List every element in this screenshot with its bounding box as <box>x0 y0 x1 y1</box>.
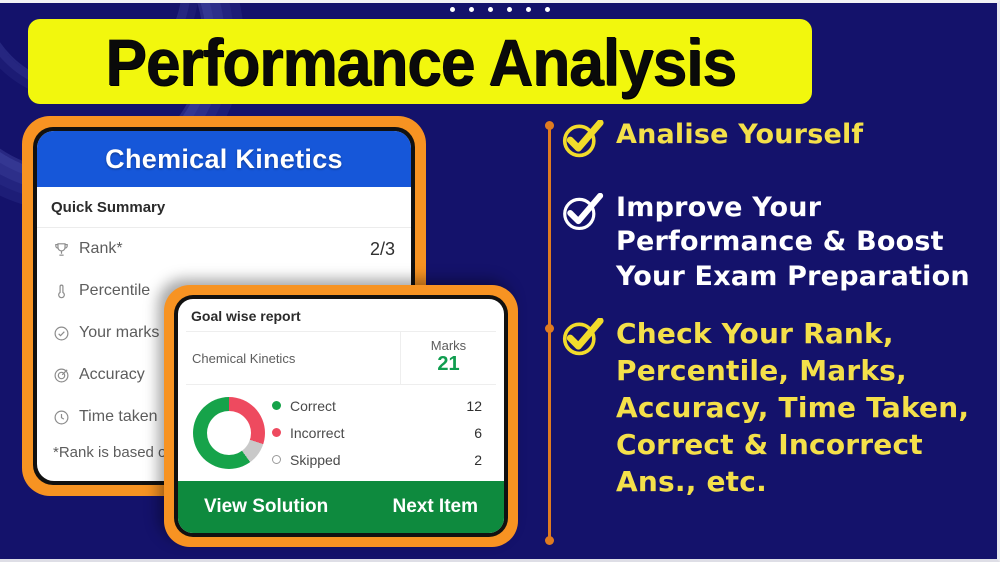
goal-report-marks-cell: Marks 21 <box>400 332 496 384</box>
dot-icon <box>545 7 550 12</box>
top-dots-decoration <box>0 7 1000 12</box>
legend-row-skipped: Skipped 2 <box>272 446 482 473</box>
dot-icon <box>469 7 474 12</box>
check-badge-white-icon <box>560 193 616 238</box>
benefit-item-3: Check Your Rank, Percentile, Marks, Accu… <box>560 316 996 501</box>
quick-summary-header: Chemical Kinetics <box>37 131 411 187</box>
legend-row-incorrect: Incorrect 6 <box>272 419 482 446</box>
summary-row-label: Rank* <box>79 240 370 258</box>
thermometer-icon <box>53 283 79 300</box>
dot-icon <box>450 7 455 12</box>
check-badge-yellow-icon <box>560 318 616 363</box>
benefit-text: Analise Yourself <box>616 118 863 152</box>
goal-report-phone-card: Goal wise report Chemical Kinetics Marks… <box>164 285 518 547</box>
legend-label: Skipped <box>290 452 474 468</box>
timeline-dot-icon <box>545 536 554 545</box>
timeline-dot-icon <box>545 121 554 130</box>
summary-row-value: 2/3 <box>370 239 395 260</box>
legend-label: Correct <box>290 398 466 414</box>
marks-label: Marks <box>401 338 496 353</box>
legend-count: 6 <box>474 425 482 441</box>
benefit-text: Check Your Rank, Percentile, Marks, Accu… <box>616 316 996 501</box>
summary-row-rank[interactable]: Rank* 2/3 <box>37 228 411 270</box>
goal-report-footer: View Solution Next Item <box>178 481 504 533</box>
quick-summary-section-title: Quick Summary <box>37 187 411 228</box>
goal-report-title: Goal wise report <box>178 299 504 331</box>
target-icon <box>53 367 79 384</box>
legend-dot-skipped-icon <box>272 455 281 464</box>
quick-summary-header-title: Chemical Kinetics <box>105 144 343 175</box>
legend-label: Incorrect <box>290 425 474 441</box>
legend-count: 12 <box>466 398 482 414</box>
check-circle-icon <box>53 325 79 342</box>
benefit-item-2: Improve Your Performance & Boost Your Ex… <box>560 191 996 294</box>
benefit-text: Improve Your Performance & Boost Your Ex… <box>616 191 996 294</box>
marks-value: 21 <box>401 353 496 376</box>
donut-chart-wrapper <box>186 397 272 469</box>
dot-icon <box>526 7 531 12</box>
dot-icon <box>488 7 493 12</box>
poster-canvas: Performance Analysis Chemical Kinetics Q… <box>0 0 1000 562</box>
clock-icon <box>53 409 79 426</box>
goal-report-body: Chemical Kinetics Marks 21 <box>178 331 504 481</box>
check-badge-yellow-icon <box>560 120 616 165</box>
goal-report-subject: Chemical Kinetics <box>186 332 400 384</box>
page-title: Performance Analysis <box>105 24 736 100</box>
benefits-list: Analise Yourself Improve Your Performanc… <box>560 118 996 515</box>
trophy-icon <box>53 241 79 258</box>
timeline-dot-icon <box>545 324 554 333</box>
page-title-banner: Performance Analysis <box>28 19 812 104</box>
legend-row-correct: Correct 12 <box>272 392 482 419</box>
donut-legend: Correct 12 Incorrect 6 Skipped <box>272 392 496 473</box>
dot-icon <box>507 7 512 12</box>
legend-count: 2 <box>474 452 482 468</box>
timeline-line <box>548 125 551 541</box>
legend-dot-correct-icon <box>272 401 281 410</box>
phone-screen: Goal wise report Chemical Kinetics Marks… <box>178 299 504 533</box>
goal-report-stats: Correct 12 Incorrect 6 Skipped <box>178 385 504 473</box>
legend-dot-incorrect-icon <box>272 428 281 437</box>
donut-chart <box>193 397 265 469</box>
phone-bezel: Goal wise report Chemical Kinetics Marks… <box>174 295 508 537</box>
view-solution-button[interactable]: View Solution <box>204 496 328 518</box>
next-item-button[interactable]: Next Item <box>392 496 478 518</box>
benefit-item-1: Analise Yourself <box>560 118 996 165</box>
goal-report-table-header: Chemical Kinetics Marks 21 <box>186 331 496 385</box>
